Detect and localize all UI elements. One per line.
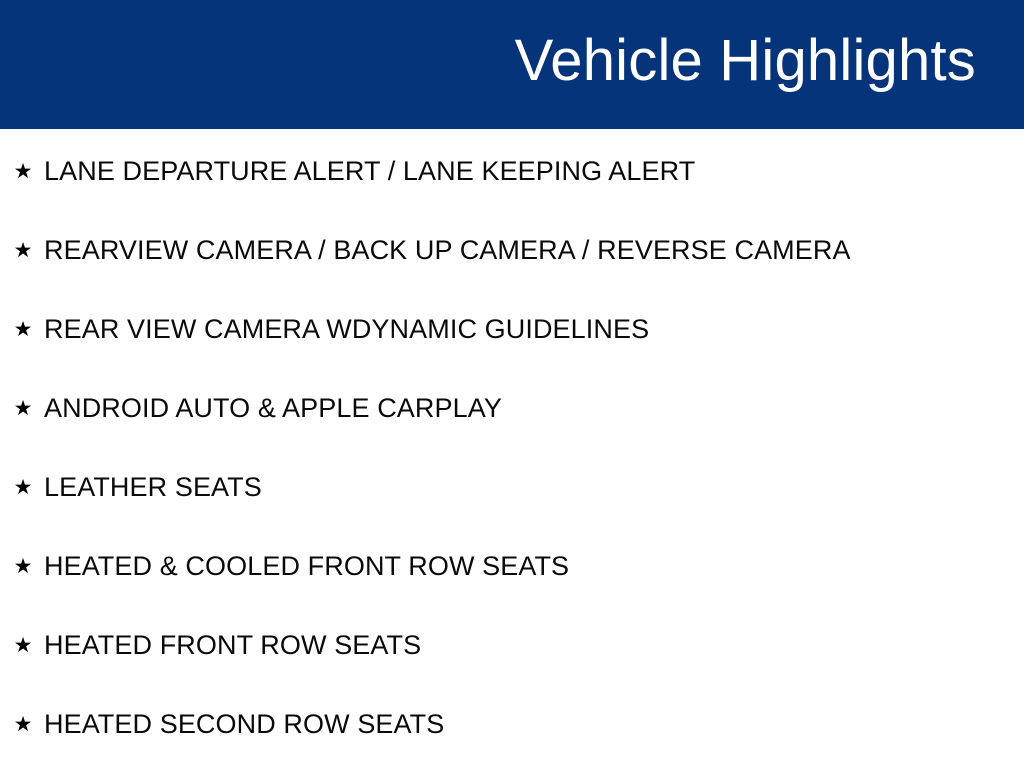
list-item: ★HEATED & COOLED FRONT ROW SEATS <box>0 524 1024 603</box>
highlight-label: LEATHER SEATS <box>44 466 262 508</box>
highlight-label: HEATED SECOND ROW SEATS <box>44 703 444 745</box>
star-icon: ★ <box>13 308 33 350</box>
star-icon: ★ <box>13 150 33 192</box>
list-item: ★HEATED SECOND ROW SEATS <box>0 682 1024 761</box>
list-item: ★LEATHER SEATS <box>0 445 1024 524</box>
highlight-label: ANDROID AUTO & APPLE CARPLAY <box>44 387 502 429</box>
highlight-label: REAR VIEW CAMERA WDYNAMIC GUIDELINES <box>44 308 649 350</box>
star-icon: ★ <box>13 545 33 587</box>
highlight-label: HEATED & COOLED FRONT ROW SEATS <box>44 545 569 587</box>
list-item: ★HEATED FRONT ROW SEATS <box>0 603 1024 682</box>
star-icon: ★ <box>13 703 33 745</box>
highlight-label: HEATED FRONT ROW SEATS <box>44 624 421 666</box>
vehicle-highlights-slide: Vehicle Highlights ★LANE DEPARTURE ALERT… <box>0 0 1024 768</box>
star-icon: ★ <box>13 624 33 666</box>
highlight-label: LANE DEPARTURE ALERT / LANE KEEPING ALER… <box>44 150 695 192</box>
list-item: ★ANDROID AUTO & APPLE CARPLAY <box>0 366 1024 445</box>
header-band: Vehicle Highlights <box>0 0 1024 129</box>
list-item: ★LANE DEPARTURE ALERT / LANE KEEPING ALE… <box>0 129 1024 208</box>
highlight-label: REARVIEW CAMERA / BACK UP CAMERA / REVER… <box>44 229 851 271</box>
star-icon: ★ <box>13 229 33 271</box>
highlights-list: ★LANE DEPARTURE ALERT / LANE KEEPING ALE… <box>0 129 1024 761</box>
list-item: ★REARVIEW CAMERA / BACK UP CAMERA / REVE… <box>0 208 1024 287</box>
star-icon: ★ <box>13 466 33 508</box>
list-item: ★REAR VIEW CAMERA WDYNAMIC GUIDELINES <box>0 287 1024 366</box>
page-title: Vehicle Highlights <box>515 23 976 99</box>
star-icon: ★ <box>13 387 33 429</box>
